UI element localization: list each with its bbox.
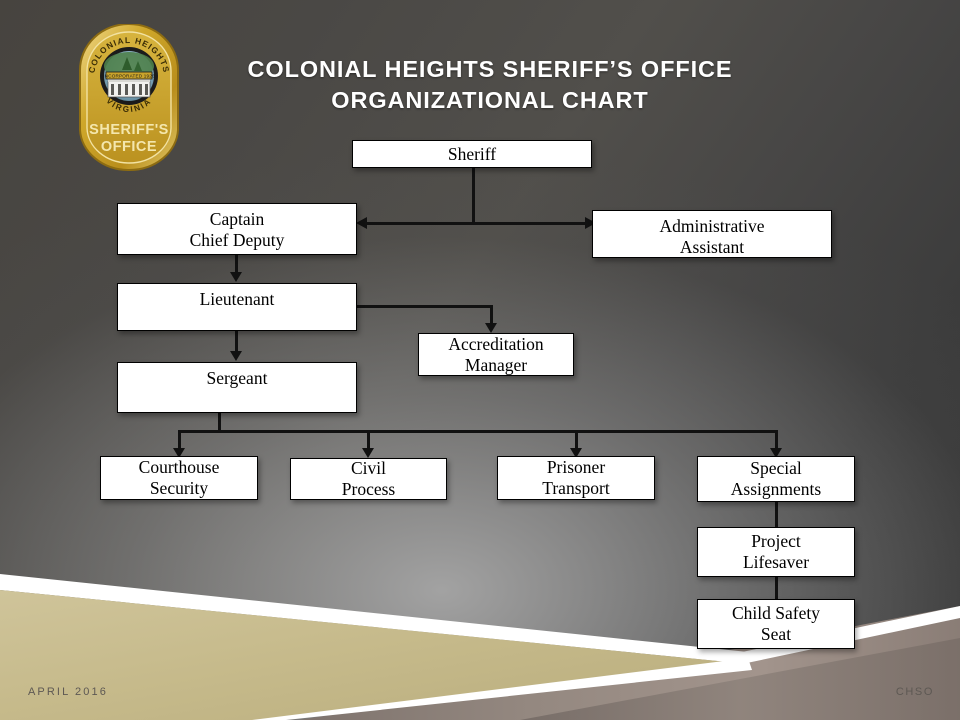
footer-date: APRIL 2016 <box>28 686 108 698</box>
connector-bus-civil <box>367 430 370 450</box>
node-special-line-1: Special <box>702 458 850 479</box>
node-sergeant[interactable]: Sergeant <box>117 362 357 413</box>
svg-text:SHERIFF'S: SHERIFF'S <box>89 122 169 138</box>
node-captain-line-1: Captain <box>122 209 352 230</box>
arrowhead-sergeant <box>230 351 242 361</box>
connector-lieutenant-accreditation-h <box>357 305 493 308</box>
node-administrative-assistant[interactable]: Administrative Assistant <box>592 210 832 258</box>
node-accreditation-line-1: Accreditation <box>423 334 569 355</box>
arrowhead-accreditation <box>485 323 497 333</box>
node-childseat-line-2: Seat <box>702 624 850 645</box>
node-courthouse-security[interactable]: Courthouse Security <box>100 456 258 500</box>
node-prisoner-transport[interactable]: Prisoner Transport <box>497 456 655 500</box>
node-lieutenant[interactable]: Lieutenant <box>117 283 357 331</box>
arrowhead-to-captain <box>356 217 367 229</box>
node-child-safety-seat[interactable]: Child Safety Seat <box>697 599 855 649</box>
connector-lieutenant-sergeant <box>235 331 238 353</box>
node-courthouse-line-1: Courthouse <box>105 457 253 478</box>
node-childseat-line-1: Child Safety <box>702 603 850 624</box>
connector-bus-prisoner <box>575 430 578 450</box>
node-prisoner-line-2: Transport <box>502 478 650 499</box>
slide-canvas: INCORPORATED 1926 COLONIAL HEIGHTS VIRGI… <box>0 0 960 720</box>
node-civil-line-2: Process <box>295 479 442 500</box>
node-civil-process[interactable]: Civil Process <box>290 458 447 500</box>
connector-sergeant-bus <box>218 430 777 433</box>
svg-text:INCORPORATED 1926: INCORPORATED 1926 <box>103 74 155 79</box>
connector-lieutenant-accreditation-v <box>490 305 493 325</box>
node-special-assignments[interactable]: Special Assignments <box>697 456 855 502</box>
node-sergeant-line-1: Sergeant <box>122 368 352 389</box>
node-special-line-2: Assignments <box>702 479 850 500</box>
node-lieutenant-line-1: Lieutenant <box>122 289 352 310</box>
title-line-1: COLONIAL HEIGHTS SHERIFF’S OFFICE <box>210 54 770 85</box>
connector-sergeant-trunk <box>218 413 221 432</box>
node-prisoner-line-1: Prisoner <box>502 457 650 478</box>
arrowhead-lieutenant <box>230 272 242 282</box>
connector-lifesaver-childseat <box>775 577 778 599</box>
sheriff-badge-icon: INCORPORATED 1926 COLONIAL HEIGHTS VIRGI… <box>70 24 188 172</box>
connector-bus-special <box>775 430 778 450</box>
connector-special-lifesaver <box>775 502 778 527</box>
node-civil-line-1: Civil <box>295 458 442 479</box>
node-project-lifesaver[interactable]: Project Lifesaver <box>697 527 855 577</box>
slide-title: COLONIAL HEIGHTS SHERIFF’S OFFICE ORGANI… <box>210 54 770 116</box>
svg-text:OFFICE: OFFICE <box>101 139 157 155</box>
node-captain[interactable]: Captain Chief Deputy <box>117 203 357 255</box>
connector-bus-courthouse <box>178 430 181 450</box>
node-sheriff-line-1: Sheriff <box>357 144 587 165</box>
node-accreditation-manager[interactable]: Accreditation Manager <box>418 333 574 376</box>
footer-organization: CHSO <box>896 686 934 698</box>
connector-captain-admin-bus <box>366 222 588 225</box>
node-admin-line-1: Administrative <box>597 216 827 237</box>
node-admin-line-2: Assistant <box>597 237 827 258</box>
arrowhead-civil <box>362 448 374 458</box>
node-lifesaver-line-1: Project <box>702 531 850 552</box>
title-line-2: ORGANIZATIONAL CHART <box>210 85 770 116</box>
connector-sheriff-trunk <box>472 167 475 223</box>
node-captain-line-2: Chief Deputy <box>122 230 352 251</box>
node-accreditation-line-2: Manager <box>423 355 569 376</box>
node-sheriff[interactable]: Sheriff <box>352 140 592 168</box>
node-courthouse-line-2: Security <box>105 478 253 499</box>
node-lifesaver-line-2: Lifesaver <box>702 552 850 573</box>
connector-bus-left-extend <box>178 430 220 433</box>
